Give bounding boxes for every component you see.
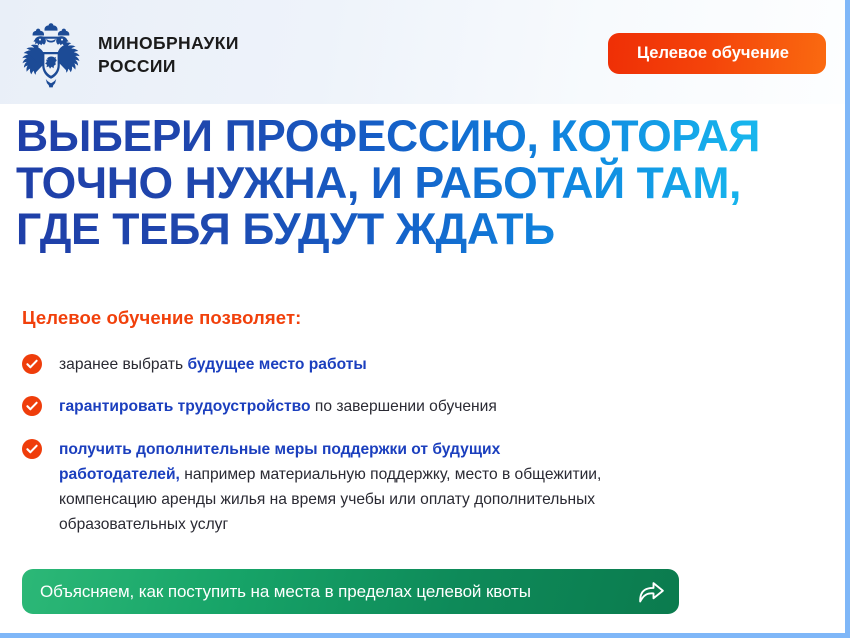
list-item-highlight: будущее место работы xyxy=(187,356,366,373)
list-item-highlight: гарантировать трудоустройство xyxy=(59,398,311,415)
cta-banner[interactable]: Объясняем, как поступить на места в пред… xyxy=(22,569,679,614)
ministry-logo-block: МИНОБРНАУКИ РОССИИ xyxy=(18,20,239,90)
section-subtitle: Целевое обучение позволяет: xyxy=(22,307,301,329)
targeted-education-badge[interactable]: Целевое обучение xyxy=(608,33,826,74)
list-item-text: гарантировать трудоустройство по заверше… xyxy=(59,394,497,419)
list-item-plain-after: по завершении обучения xyxy=(311,398,497,415)
cta-label: Объясняем, как поступить на места в пред… xyxy=(40,582,627,602)
share-arrow-icon[interactable] xyxy=(637,579,665,605)
check-circle-icon xyxy=(22,439,42,459)
check-circle-icon xyxy=(22,354,42,374)
list-item-plain-before: заранее выбрать xyxy=(59,356,187,373)
russian-coat-of-arms-eagle-icon xyxy=(18,20,84,90)
целевое-обучение-poster: МИНОБРНАУКИ РОССИИ Целевое обучение ВЫБЕ… xyxy=(0,0,850,638)
list-item: заранее выбрать будущее место работы xyxy=(22,352,622,377)
list-item: получить дополнительные меры поддержки о… xyxy=(22,437,622,538)
benefits-list: заранее выбрать будущее место работы гар… xyxy=(22,352,622,555)
poster-header: МИНОБРНАУКИ РОССИИ Целевое обучение xyxy=(0,0,845,104)
list-item-text: получить дополнительные меры поддержки о… xyxy=(59,437,622,538)
list-item: гарантировать трудоустройство по заверше… xyxy=(22,394,622,419)
ministry-name: МИНОБРНАУКИ РОССИИ xyxy=(98,32,239,78)
list-item-text: заранее выбрать будущее место работы xyxy=(59,352,367,377)
check-circle-icon xyxy=(22,396,42,416)
page-title: ВЫБЕРИ ПРОФЕССИЮ, КОТОРАЯ ТОЧНО НУЖНА, И… xyxy=(16,114,834,254)
